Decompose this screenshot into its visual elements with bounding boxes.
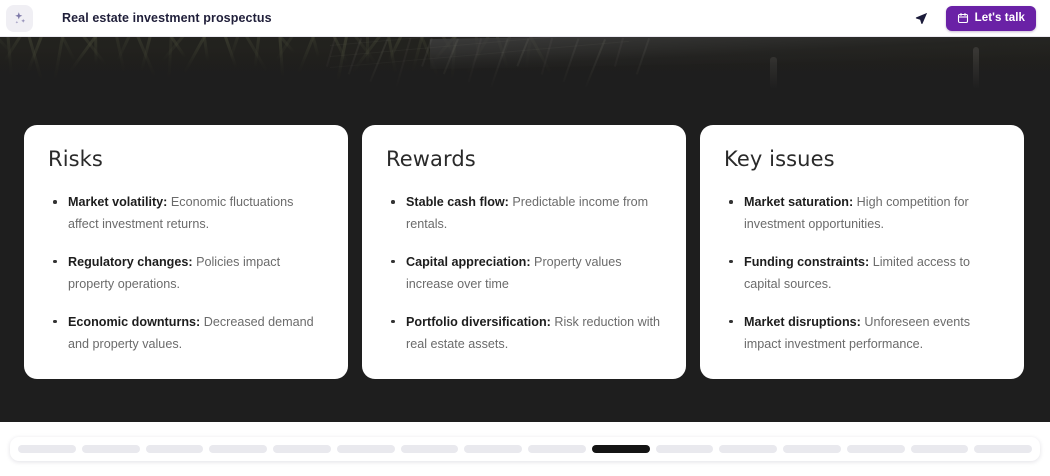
list-item: Economic downturns: Decreased demand and… <box>48 311 324 356</box>
list-item: Regulatory changes: Policies impact prop… <box>48 251 324 296</box>
slide-thumb[interactable] <box>656 445 714 453</box>
slide-thumb[interactable] <box>783 445 841 453</box>
card-row: Risks Market volatility: Economic fluctu… <box>24 125 1024 379</box>
list-item: Stable cash flow: Predictable income fro… <box>386 191 662 236</box>
slide-thumb[interactable] <box>146 445 204 453</box>
list-item: Portfolio diversification: Risk reductio… <box>386 311 662 356</box>
bullet-list: Market saturation: High competition for … <box>724 191 1000 355</box>
bullet-list: Market volatility: Economic fluctuations… <box>48 191 324 355</box>
bullet-list: Stable cash flow: Predictable income fro… <box>386 191 662 355</box>
calendar-icon <box>957 12 969 24</box>
list-item: Market disruptions: Unforeseen events im… <box>724 311 1000 356</box>
bullet-lead: Funding constraints: <box>744 255 869 269</box>
slide-thumb[interactable] <box>82 445 140 453</box>
slide-thumb[interactable] <box>337 445 395 453</box>
toolbar-actions: Let's talk <box>911 6 1036 31</box>
bullet-lead: Market disruptions: <box>744 315 861 329</box>
bullet-lead: Capital appreciation: <box>406 255 531 269</box>
bullet-lead: Regulatory changes: <box>68 255 193 269</box>
slide-thumb[interactable] <box>719 445 777 453</box>
lets-talk-label: Let's talk <box>975 12 1025 24</box>
card-title: Rewards <box>386 147 662 171</box>
slide-thumb-active[interactable] <box>592 445 650 453</box>
bullet-lead: Portfolio diversification: <box>406 315 551 329</box>
slide-thumb[interactable] <box>847 445 905 453</box>
lets-talk-button[interactable]: Let's talk <box>946 6 1036 31</box>
slide-navigator <box>0 422 1050 476</box>
paper-plane-icon[interactable] <box>911 7 933 29</box>
card-risks: Risks Market volatility: Economic fluctu… <box>24 125 348 379</box>
bullet-lead: Market volatility: <box>68 195 167 209</box>
slide-thumb[interactable] <box>974 445 1032 453</box>
document-title: Real estate investment prospectus <box>62 11 272 25</box>
card-title: Risks <box>48 147 324 171</box>
slide-thumb[interactable] <box>911 445 969 453</box>
list-item: Funding constraints: Limited access to c… <box>724 251 1000 296</box>
slide-canvas: Risks Market volatility: Economic fluctu… <box>0 37 1050 422</box>
hero-photo-strip <box>0 37 1050 89</box>
bullet-lead: Market saturation: <box>744 195 853 209</box>
card-title: Key issues <box>724 147 1000 171</box>
sparkles-icon[interactable] <box>6 5 33 32</box>
card-key-issues: Key issues Market saturation: High compe… <box>700 125 1024 379</box>
list-item: Capital appreciation: Property values in… <box>386 251 662 296</box>
list-item: Market volatility: Economic fluctuations… <box>48 191 324 236</box>
card-rewards: Rewards Stable cash flow: Predictable in… <box>362 125 686 379</box>
slide-thumb[interactable] <box>209 445 267 453</box>
slide-thumb[interactable] <box>528 445 586 453</box>
slide-thumbnail-strip[interactable] <box>10 437 1040 461</box>
slide-thumb[interactable] <box>464 445 522 453</box>
slide-thumb[interactable] <box>273 445 331 453</box>
presentation-app: Real estate investment prospectus Let's … <box>0 0 1050 476</box>
list-item: Market saturation: High competition for … <box>724 191 1000 236</box>
bullet-lead: Stable cash flow: <box>406 195 509 209</box>
top-toolbar: Real estate investment prospectus Let's … <box>0 0 1050 37</box>
slide-thumb[interactable] <box>18 445 76 453</box>
bullet-lead: Economic downturns: <box>68 315 200 329</box>
slide-thumb[interactable] <box>401 445 459 453</box>
